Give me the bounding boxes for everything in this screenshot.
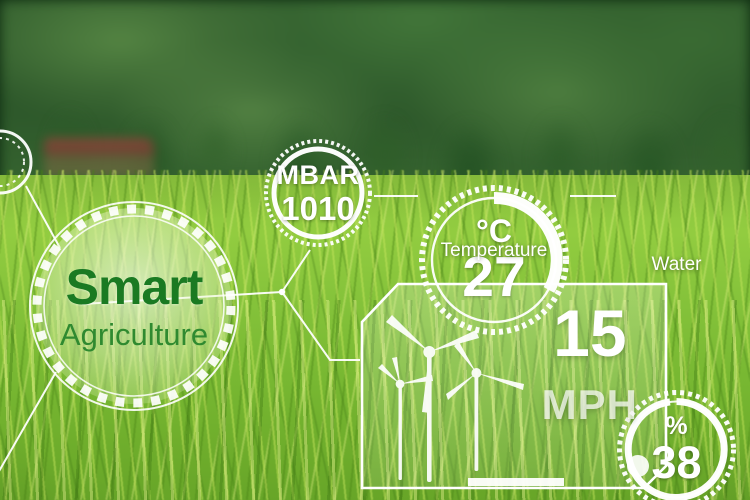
gauge-water-caption: Water <box>652 254 702 276</box>
wind-panel[interactable]: 15 MPH <box>358 280 670 492</box>
gauge-partial-offscreen <box>0 126 36 198</box>
line-junction-to-pressure <box>282 250 310 292</box>
logo-line-secondary: Agriculture <box>60 319 208 350</box>
gauge-pressure-unit: MBAR <box>277 162 360 189</box>
hud-scene: Smart Agriculture MBAR 1010 <box>0 0 750 500</box>
wind-panel-bottom-bar <box>468 478 564 486</box>
smart-agriculture-badge[interactable]: Smart Agriculture <box>22 194 246 418</box>
wind-readout: 15 MPH <box>542 302 638 429</box>
logo-line-primary: Smart <box>66 262 203 312</box>
junction-node <box>279 289 285 295</box>
gauge-pressure-value: 1010 <box>281 192 354 225</box>
wind-panel-corner-dot <box>627 455 649 477</box>
wind-unit: MPH <box>542 381 638 429</box>
line-junction-to-wind <box>282 292 360 360</box>
gauge-pressure[interactable]: MBAR 1010 <box>262 137 374 249</box>
gauge-temperature-caption-wrap: Temperature <box>416 236 572 262</box>
hud-overlay: Smart Agriculture MBAR 1010 <box>0 0 750 500</box>
gauge-water-caption-wrap: Water <box>615 250 738 276</box>
wind-value: 15 <box>542 302 638 365</box>
gauge-partial-ring <box>0 126 36 198</box>
gauge-temperature-caption: Temperature <box>441 240 548 262</box>
